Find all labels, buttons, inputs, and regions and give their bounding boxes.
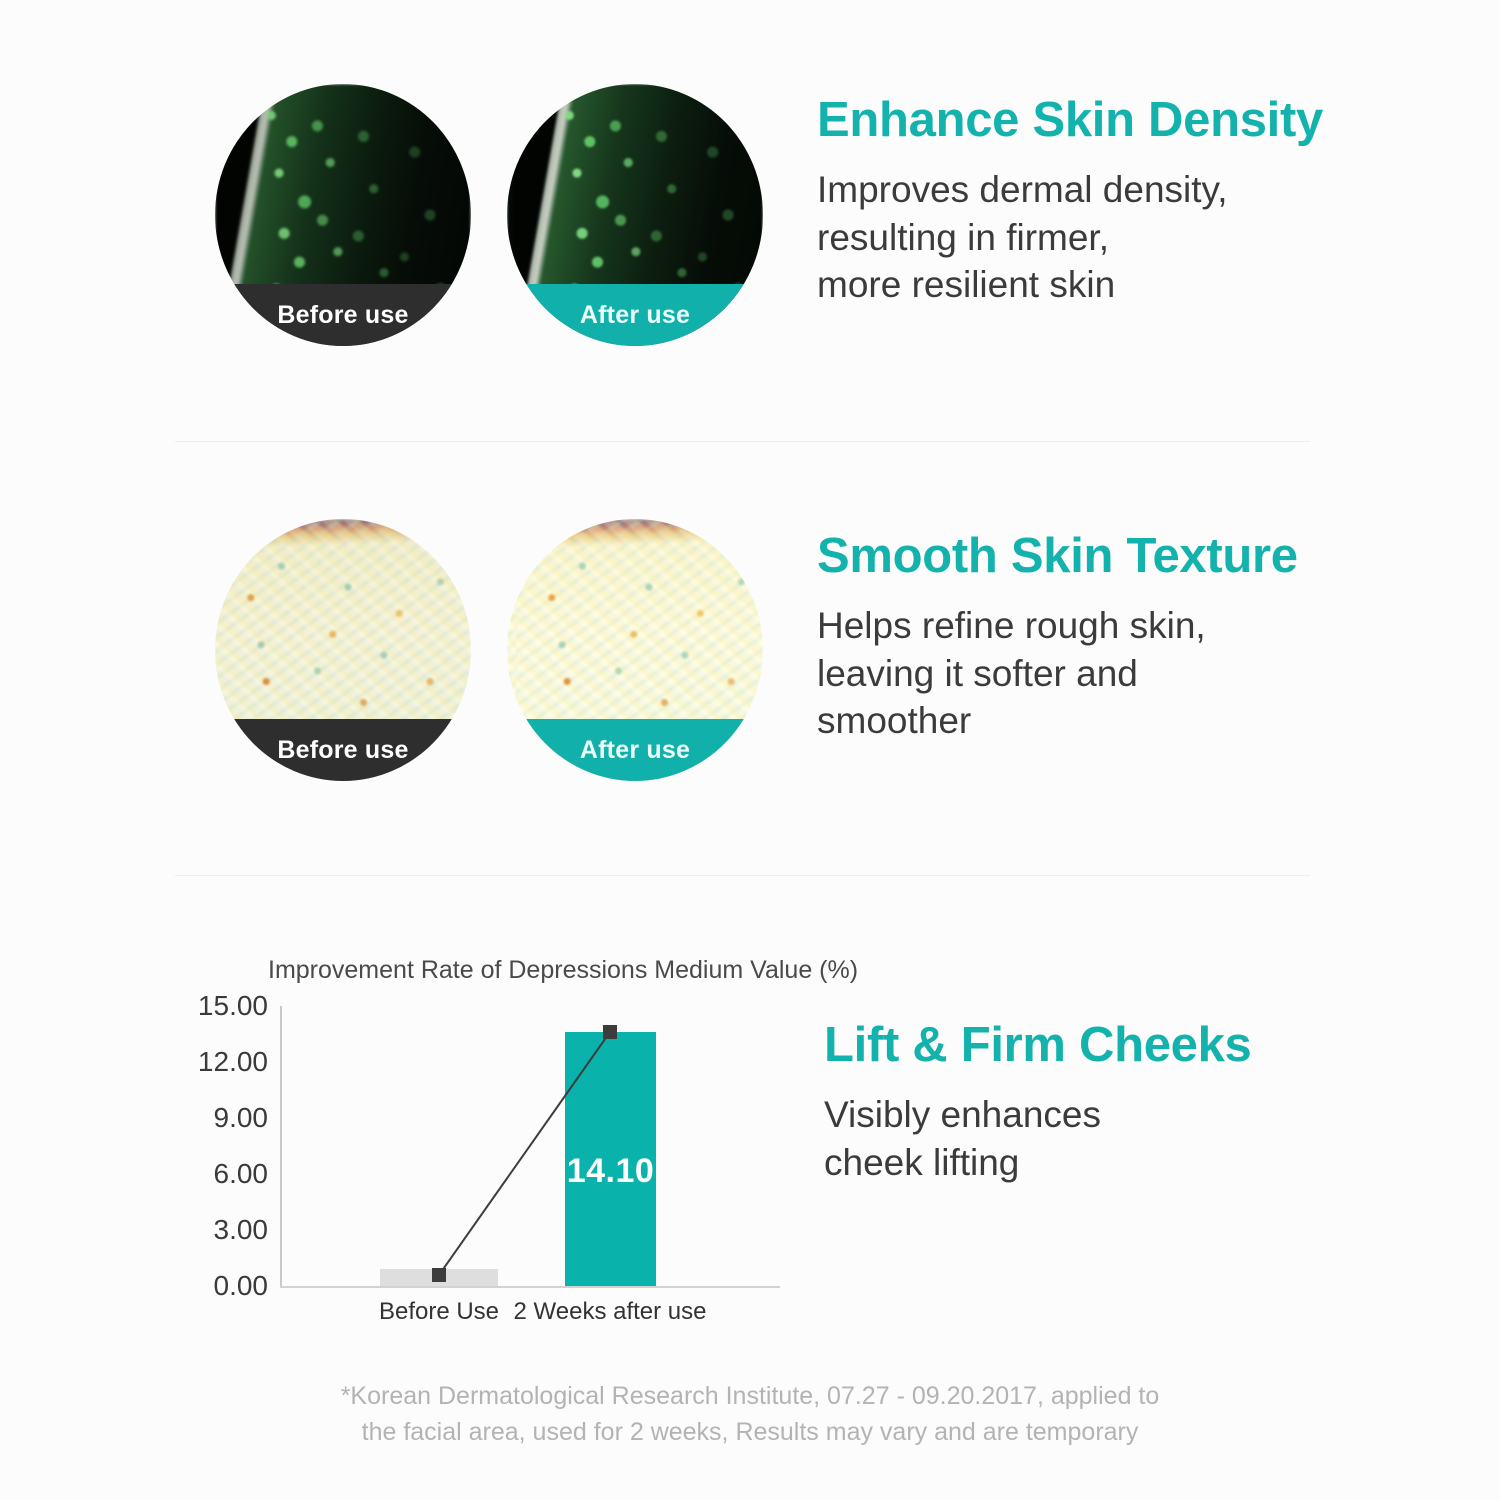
footnote-line: the facial area, used for 2 weeks, Resul… [0, 1414, 1500, 1450]
body-skin-texture: Helps refine rough skin, leaving it soft… [817, 602, 1298, 744]
body-line: leaving it softer and [817, 650, 1298, 697]
body-line: cheek lifting [824, 1139, 1252, 1186]
heading-skin-density: Enhance Skin Density [817, 95, 1323, 146]
x-axis-tick-label: Before Use [379, 1298, 499, 1326]
before-circle-texture: Before use [215, 519, 471, 781]
after-use-label-density: After use [507, 284, 763, 346]
infographic-page: Before use After use Enhance Skin Densit… [0, 0, 1500, 1500]
section-skin-density: Before use After use Enhance Skin Densit… [0, 0, 1500, 441]
x-axis-tick-label: 2 Weeks after use [514, 1298, 707, 1326]
footnote-line: *Korean Dermatological Research Institut… [0, 1378, 1500, 1414]
heading-lift-firm: Lift & Firm Cheeks [824, 1020, 1252, 1071]
before-circle-density: Before use [215, 84, 471, 346]
before-use-label-density: Before use [215, 284, 471, 346]
section-skin-texture: Before use After use Smooth Skin Texture… [0, 441, 1500, 875]
after-use-label-texture: After use [507, 719, 763, 781]
before-use-label-texture: Before use [215, 719, 471, 781]
copy-skin-texture: Smooth Skin Texture Helps refine rough s… [817, 531, 1298, 745]
body-line: Visibly enhances [824, 1091, 1252, 1138]
body-line: resulting in firmer, [817, 214, 1323, 261]
copy-lift-firm: Lift & Firm Cheeks Visibly enhances chee… [824, 1020, 1252, 1186]
after-circle-density: After use [507, 84, 763, 346]
body-line: Improves dermal density, [817, 166, 1323, 213]
study-footnote: *Korean Dermatological Research Institut… [0, 1378, 1500, 1451]
after-circle-texture: After use [507, 519, 763, 781]
body-line: more resilient skin [817, 261, 1323, 308]
body-line: smoother [817, 697, 1298, 744]
heading-skin-texture: Smooth Skin Texture [817, 531, 1298, 582]
body-line: Helps refine rough skin, [817, 602, 1298, 649]
copy-skin-density: Enhance Skin Density Improves dermal den… [817, 95, 1323, 309]
body-lift-firm: Visibly enhances cheek lifting [824, 1091, 1252, 1186]
chart-plot-area: 15.00 12.00 9.00 6.00 3.00 0.00 14.10 Be… [196, 1002, 786, 1292]
body-skin-density: Improves dermal density, resulting in fi… [817, 166, 1323, 308]
trend-line [196, 1002, 786, 1292]
chart-title: Improvement Rate of Depressions Medium V… [268, 956, 858, 985]
